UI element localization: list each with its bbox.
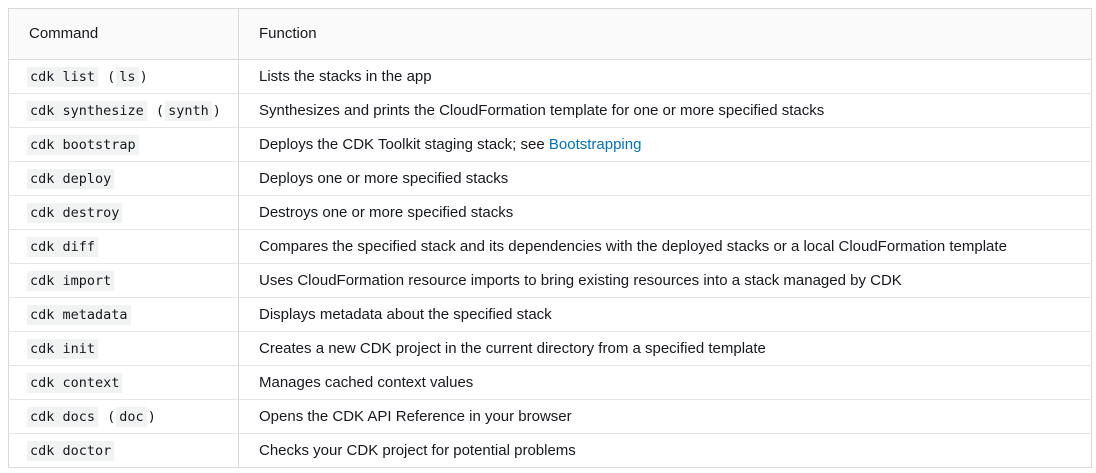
cell-command: cdk init bbox=[9, 332, 239, 366]
function-description: Destroys one or more specified stacks bbox=[259, 204, 513, 221]
cell-command: cdk doctor bbox=[9, 434, 239, 468]
column-header-function: Function bbox=[239, 9, 1092, 60]
cell-function: Uses CloudFormation resource imports to … bbox=[239, 264, 1092, 298]
alias-close-paren: ) bbox=[212, 103, 222, 119]
command-code: cdk diff bbox=[27, 237, 98, 257]
cell-function: Destroys one or more specified stacks bbox=[239, 196, 1092, 230]
cell-function: Manages cached context values bbox=[239, 366, 1092, 400]
cell-function: Lists the stacks in the app bbox=[239, 60, 1092, 94]
table-row: cdk deployDeploys one or more specified … bbox=[9, 162, 1092, 196]
command-code: cdk list bbox=[27, 67, 98, 87]
command-table-container: Command Function cdk list (ls)Lists the … bbox=[8, 8, 1091, 468]
table-row: cdk destroyDestroys one or more specifie… bbox=[9, 196, 1092, 230]
table-row: cdk docs (doc)Opens the CDK API Referenc… bbox=[9, 400, 1092, 434]
function-description: Deploys the CDK Toolkit staging stack; s… bbox=[259, 136, 549, 153]
page-root: Command Function cdk list (ls)Lists the … bbox=[0, 0, 1096, 473]
cell-command: cdk docs (doc) bbox=[9, 400, 239, 434]
command-code: cdk deploy bbox=[27, 169, 114, 189]
function-description: Manages cached context values bbox=[259, 374, 473, 391]
alias-open-paren: ( bbox=[98, 409, 116, 425]
table-row: cdk bootstrapDeploys the CDK Toolkit sta… bbox=[9, 128, 1092, 162]
function-description: Checks your CDK project for potential pr… bbox=[259, 442, 576, 459]
command-code: cdk destroy bbox=[27, 203, 122, 223]
cell-command: cdk import bbox=[9, 264, 239, 298]
table-row: cdk metadataDisplays metadata about the … bbox=[9, 298, 1092, 332]
cell-command: cdk context bbox=[9, 366, 239, 400]
command-code: cdk import bbox=[27, 271, 114, 291]
alias-open-paren: ( bbox=[98, 69, 116, 85]
cell-command: cdk diff bbox=[9, 230, 239, 264]
cell-function: Creates a new CDK project in the current… bbox=[239, 332, 1092, 366]
command-code: cdk docs bbox=[27, 407, 98, 427]
alias-close-paren: ) bbox=[139, 69, 149, 85]
cell-function: Synthesizes and prints the CloudFormatio… bbox=[239, 94, 1092, 128]
table-body: cdk list (ls)Lists the stacks in the app… bbox=[9, 60, 1092, 468]
table-header-row: Command Function bbox=[9, 9, 1092, 60]
command-code: cdk synthesize bbox=[27, 101, 147, 121]
table-row: cdk diffCompares the specified stack and… bbox=[9, 230, 1092, 264]
cell-command: cdk list (ls) bbox=[9, 60, 239, 94]
cell-command: cdk destroy bbox=[9, 196, 239, 230]
column-header-command: Command bbox=[9, 9, 239, 60]
bootstrapping-link[interactable]: Bootstrapping bbox=[549, 136, 642, 153]
cell-command: cdk deploy bbox=[9, 162, 239, 196]
table-row: cdk importUses CloudFormation resource i… bbox=[9, 264, 1092, 298]
cell-function: Compares the specified stack and its dep… bbox=[239, 230, 1092, 264]
cell-command: cdk bootstrap bbox=[9, 128, 239, 162]
command-alias-code: synth bbox=[165, 101, 212, 121]
command-code: cdk context bbox=[27, 373, 122, 393]
command-alias-code: ls bbox=[116, 67, 138, 87]
cell-function: Displays metadata about the specified st… bbox=[239, 298, 1092, 332]
table-header: Command Function bbox=[9, 9, 1092, 60]
table-row: cdk doctorChecks your CDK project for po… bbox=[9, 434, 1092, 468]
alias-open-paren: ( bbox=[147, 103, 165, 119]
table-row: cdk synthesize (synth)Synthesizes and pr… bbox=[9, 94, 1092, 128]
cell-command: cdk synthesize (synth) bbox=[9, 94, 239, 128]
command-code: cdk doctor bbox=[27, 441, 114, 461]
command-code: cdk metadata bbox=[27, 305, 131, 325]
function-description: Opens the CDK API Reference in your brow… bbox=[259, 408, 572, 425]
function-description: Compares the specified stack and its dep… bbox=[259, 238, 1007, 255]
cell-function: Opens the CDK API Reference in your brow… bbox=[239, 400, 1092, 434]
function-description: Synthesizes and prints the CloudFormatio… bbox=[259, 102, 824, 119]
cell-command: cdk metadata bbox=[9, 298, 239, 332]
command-alias-code: doc bbox=[116, 407, 146, 427]
function-description: Deploys one or more specified stacks bbox=[259, 170, 508, 187]
cell-function: Deploys the CDK Toolkit staging stack; s… bbox=[239, 128, 1092, 162]
function-description: Lists the stacks in the app bbox=[259, 68, 432, 85]
table-row: cdk list (ls)Lists the stacks in the app bbox=[9, 60, 1092, 94]
table-row: cdk initCreates a new CDK project in the… bbox=[9, 332, 1092, 366]
command-code: cdk init bbox=[27, 339, 98, 359]
function-description: Creates a new CDK project in the current… bbox=[259, 340, 766, 357]
command-code: cdk bootstrap bbox=[27, 135, 139, 155]
cell-function: Checks your CDK project for potential pr… bbox=[239, 434, 1092, 468]
function-description: Displays metadata about the specified st… bbox=[259, 306, 552, 323]
cdk-command-table: Command Function cdk list (ls)Lists the … bbox=[8, 8, 1092, 468]
cell-function: Deploys one or more specified stacks bbox=[239, 162, 1092, 196]
table-row: cdk contextManages cached context values bbox=[9, 366, 1092, 400]
function-description: Uses CloudFormation resource imports to … bbox=[259, 272, 902, 289]
alias-close-paren: ) bbox=[147, 409, 157, 425]
